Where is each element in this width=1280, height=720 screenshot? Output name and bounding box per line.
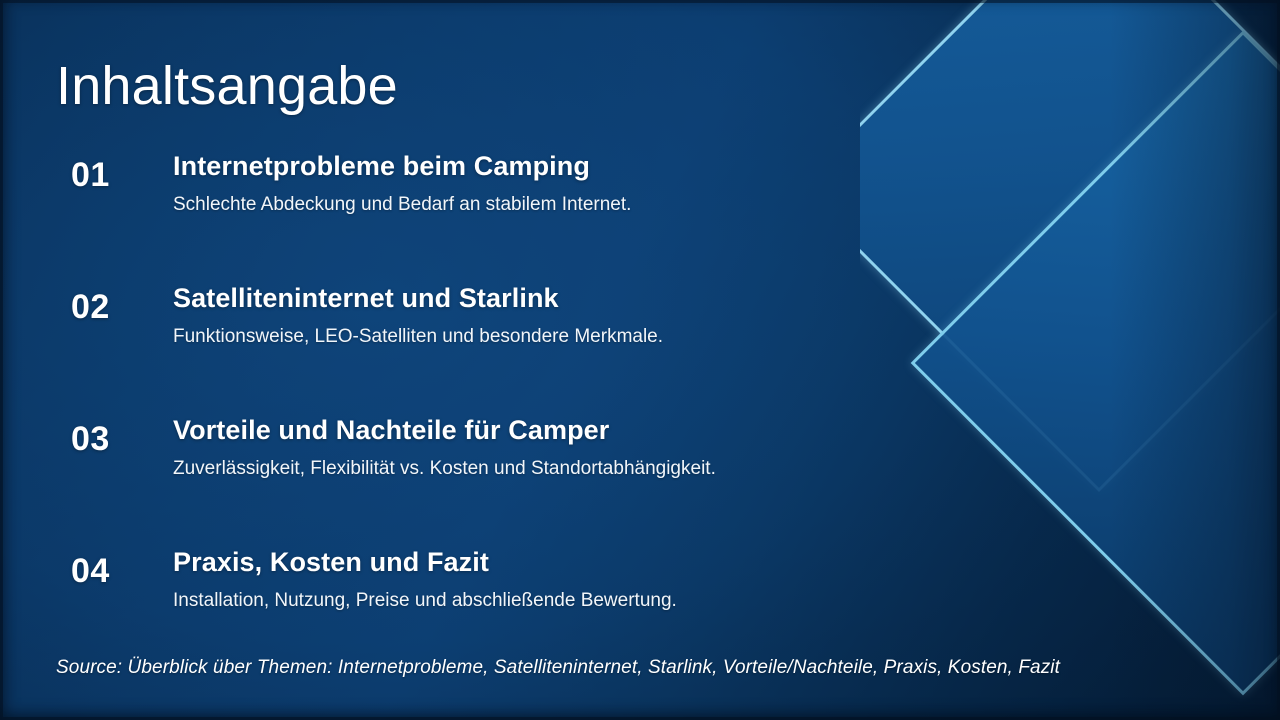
table-of-contents-list: 01 Internetprobleme beim Camping Schlech…	[56, 150, 956, 678]
toc-item-02[interactable]: 02 Satelliteninternet und Starlink Funkt…	[56, 282, 956, 414]
source-note: Source: Überblick über Themen: Internetp…	[56, 657, 1060, 679]
page-title: Inhaltsangabe	[56, 58, 398, 115]
toc-item-body: Vorteile und Nachteile für Camper Zuverl…	[173, 414, 956, 481]
presentation-slide: Inhaltsangabe 01 Internetprobleme beim C…	[0, 0, 1280, 720]
toc-item-body: Praxis, Kosten und Fazit Installation, N…	[173, 546, 956, 613]
toc-item-body: Internetprobleme beim Camping Schlechte …	[173, 150, 956, 217]
toc-item-number: 04	[71, 552, 171, 591]
toc-item-heading: Vorteile und Nachteile für Camper	[173, 414, 956, 446]
toc-item-number: 01	[71, 156, 171, 195]
toc-item-03[interactable]: 03 Vorteile und Nachteile für Camper Zuv…	[56, 414, 956, 546]
toc-item-number: 02	[71, 288, 171, 327]
toc-item-description: Schlechte Abdeckung und Bedarf an stabil…	[173, 193, 956, 217]
toc-item-description: Zuverlässigkeit, Flexibilität vs. Kosten…	[173, 457, 956, 481]
toc-item-description: Funktionsweise, LEO-Satelliten und beson…	[173, 325, 956, 349]
slide-content: Inhaltsangabe 01 Internetprobleme beim C…	[0, 0, 1280, 720]
toc-item-number: 03	[71, 420, 171, 459]
toc-item-heading: Internetprobleme beim Camping	[173, 150, 956, 182]
toc-item-01[interactable]: 01 Internetprobleme beim Camping Schlech…	[56, 150, 956, 282]
toc-item-heading: Satelliteninternet und Starlink	[173, 282, 956, 314]
toc-item-body: Satelliteninternet und Starlink Funktion…	[173, 282, 956, 349]
toc-item-heading: Praxis, Kosten und Fazit	[173, 546, 956, 578]
toc-item-description: Installation, Nutzung, Preise und abschl…	[173, 589, 956, 613]
